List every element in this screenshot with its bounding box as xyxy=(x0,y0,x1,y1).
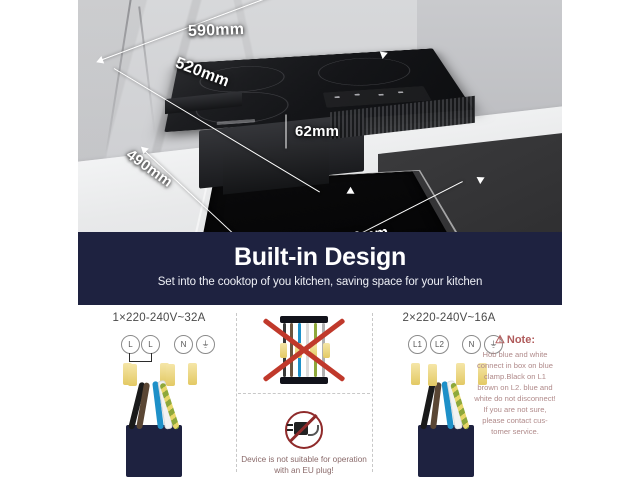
splice-ferrule-1 xyxy=(280,343,287,358)
splice-cap-top xyxy=(280,316,328,323)
plug-cord-icon xyxy=(308,425,319,436)
terminal-L1: L1 xyxy=(408,335,427,354)
product-infographic: 590mm 520mm 62mm 490mm 560mm Built-in De… xyxy=(0,0,640,480)
control-indicator-dot xyxy=(334,96,340,98)
banner-subtitle: Set into the cooktop of you kitchen, sav… xyxy=(78,276,562,288)
splice-ferrule-4 xyxy=(323,343,330,358)
control-indicator-dot xyxy=(354,94,360,96)
wiring-single-phase-title: 1×220-240V~32A xyxy=(84,312,234,324)
cable-single-phase xyxy=(84,367,234,477)
splice-cap-bottom xyxy=(280,377,328,384)
ferrule-neutral-2 xyxy=(456,363,465,385)
dimension-label-62: 62mm xyxy=(295,123,339,140)
terminal-earth: ⏚ xyxy=(196,335,215,354)
section-divider-horizontal xyxy=(238,393,370,394)
terminal-L2: L2 xyxy=(430,335,449,354)
note-title-row: ⚠Note: xyxy=(470,333,560,346)
wiring-diagram-section: 1×220-240V~32A L L N ⏚ xyxy=(78,305,562,480)
ferrule-black-2 xyxy=(411,363,420,385)
note-body-text: Hob blue and white connect in box on blu… xyxy=(470,346,560,437)
prohibition-icon xyxy=(285,411,323,449)
dimension-line-62 xyxy=(286,115,287,149)
terminal-row-single-phase: L L N ⏚ xyxy=(84,335,234,357)
dimension-label-590: 590mm xyxy=(188,21,245,41)
section-divider-left xyxy=(236,313,237,472)
terminal-bridge-link xyxy=(129,353,152,362)
wire-splice-illustration xyxy=(267,316,341,384)
cooking-zone-3 xyxy=(315,56,418,89)
terminal-L-1: L xyxy=(121,335,140,354)
cable-clamp-box xyxy=(126,425,182,477)
no-eu-plug-warning: Device is not suitable for operation wit… xyxy=(238,405,370,476)
note-panel: ⚠Note: Hob blue and white connect in box… xyxy=(470,305,560,480)
wiring-warnings-column: Device is not suitable for operation wit… xyxy=(238,305,370,480)
banner-title: Built-in Design xyxy=(78,232,562,272)
banner-diagonal-edge xyxy=(78,232,562,238)
terminal-N: N xyxy=(174,335,193,354)
splice-wire-brown xyxy=(290,323,293,377)
ferrule-earth xyxy=(188,363,197,385)
ferrule-white xyxy=(166,364,175,386)
section-divider-right xyxy=(372,313,373,472)
ferrule-brown-2 xyxy=(428,364,437,386)
terminal-L-2: L xyxy=(141,335,160,354)
control-indicator-dot xyxy=(377,94,383,96)
built-in-design-banner: Built-in Design Set into the cooktop of … xyxy=(78,232,562,305)
cable-clamp-box-2 xyxy=(418,425,474,477)
warning-triangle-icon: ⚠ xyxy=(495,333,505,346)
ferrule-brown xyxy=(128,364,137,386)
forbidden-splice-diagram xyxy=(238,311,370,389)
control-indicator-dot xyxy=(397,91,403,93)
wiring-single-phase: 1×220-240V~32A L L N ⏚ xyxy=(84,305,234,480)
note-title: Note: xyxy=(507,334,535,346)
plug-icon xyxy=(294,422,308,435)
no-eu-plug-caption: Device is not suitable for operation wit… xyxy=(238,454,370,476)
